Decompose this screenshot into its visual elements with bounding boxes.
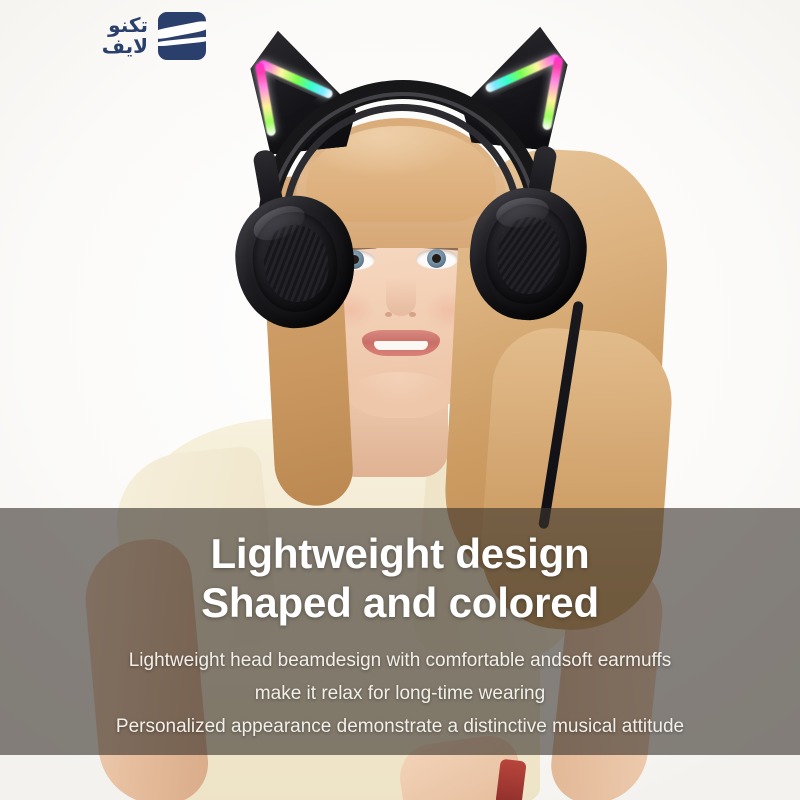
pupil [350, 255, 359, 264]
brand-name-line1: تكنو [108, 16, 148, 36]
model-nose [386, 278, 416, 316]
brand-name: تكنو لايف [102, 16, 148, 57]
caption-body: Lightweight head beamdesign with comfort… [0, 645, 800, 744]
body-line-1: Lightweight head beamdesign with comfort… [0, 645, 800, 678]
red-accent-detail [495, 759, 526, 800]
model-teeth [374, 341, 428, 350]
model-nostril-left [385, 312, 392, 317]
model-mouth [362, 330, 440, 356]
model-eye-right [416, 249, 458, 269]
model-chin [352, 372, 448, 408]
caption-headline: Lightweight design Shaped and colored [0, 530, 800, 627]
body-line-3: Personalized appearance demonstrate a di… [0, 711, 800, 744]
headline-line-1: Lightweight design [210, 530, 589, 577]
body-line-2: make it relax for long-time wearing [0, 678, 800, 711]
brand-swoosh-icon [158, 12, 206, 60]
headline-line-2: Shaped and colored [0, 579, 800, 628]
model-nostril-right [409, 312, 416, 317]
pupil [432, 254, 441, 263]
brand-logo[interactable]: تكنو لايف [26, 8, 206, 64]
product-banner: تكنو لايف Lightweight design Shaped and … [0, 0, 800, 800]
brand-name-line2: لايف [102, 37, 148, 57]
